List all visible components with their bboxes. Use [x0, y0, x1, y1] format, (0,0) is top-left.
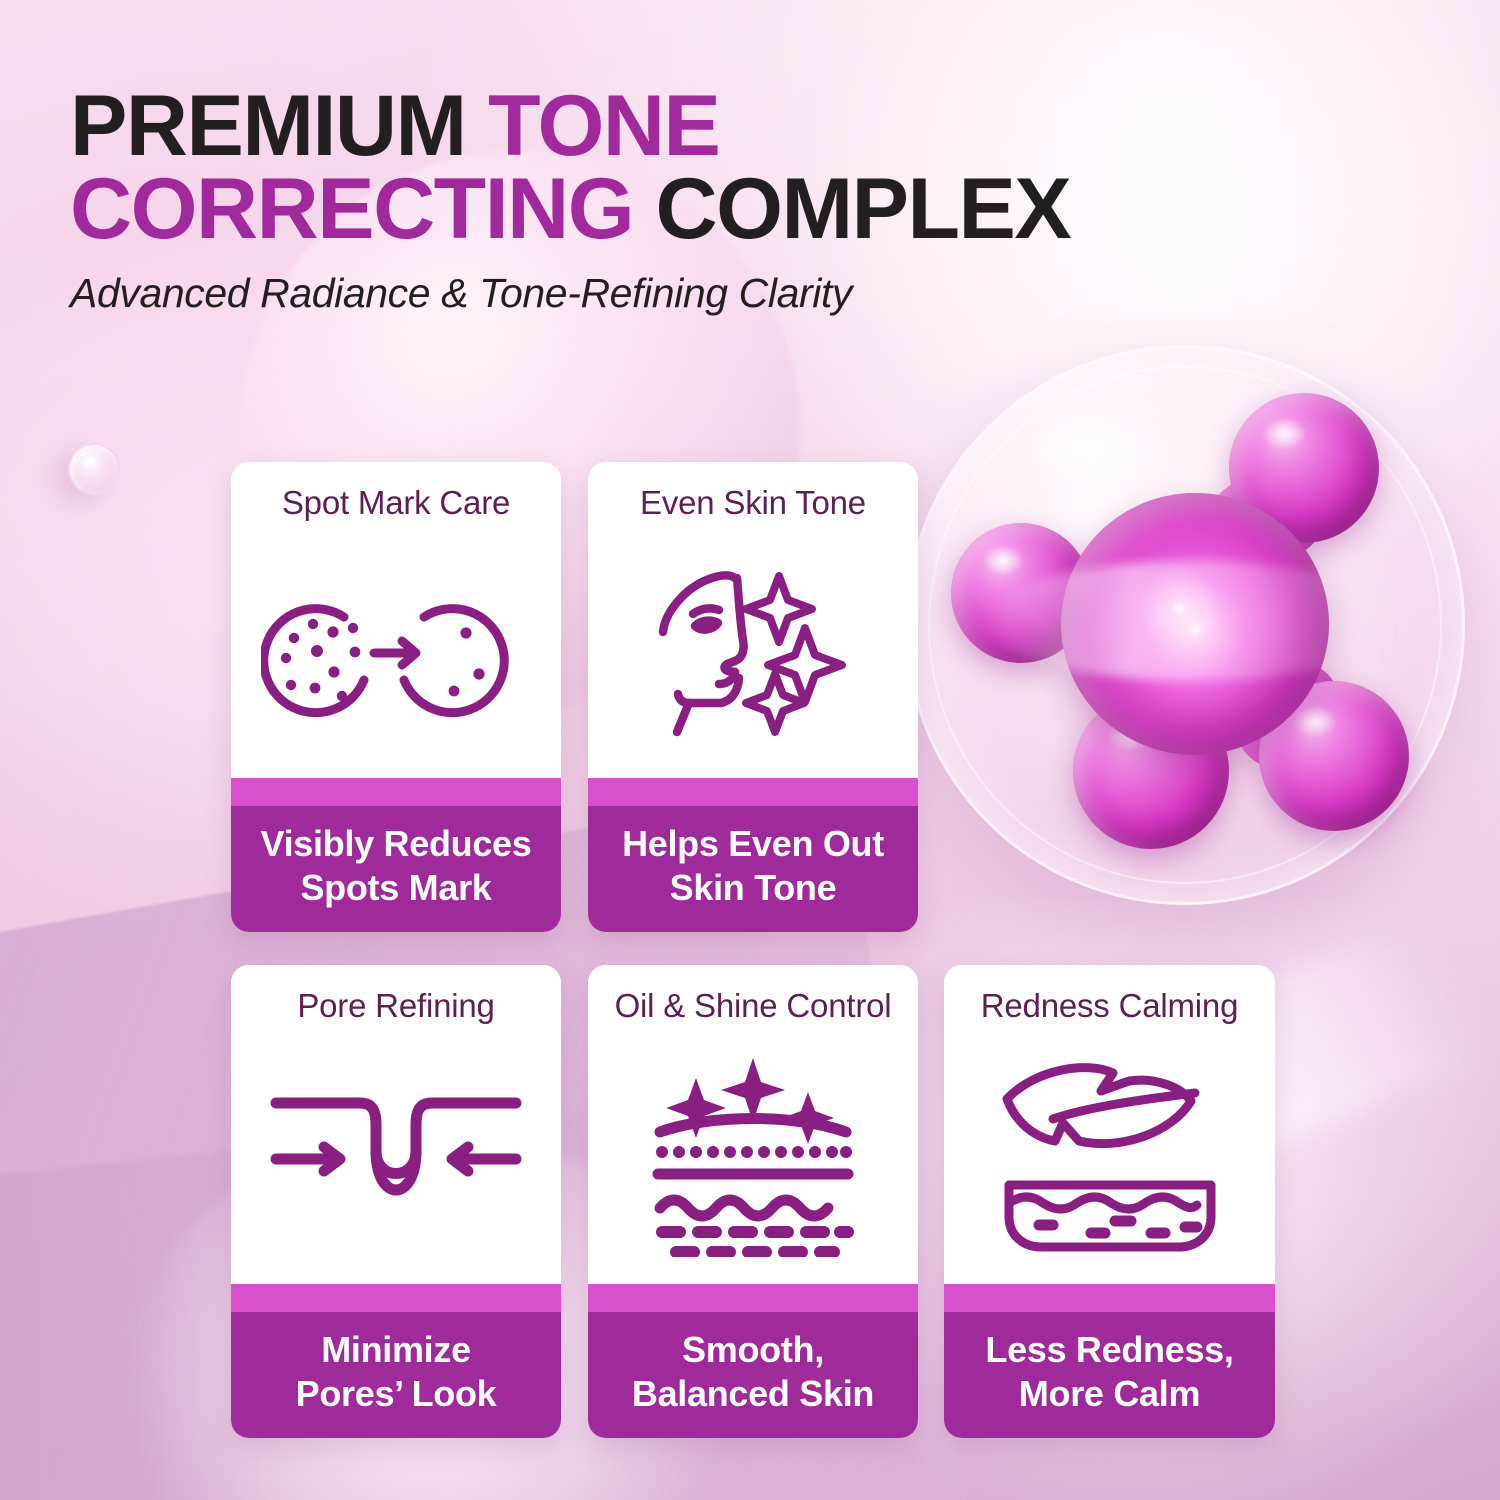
card-band-strip: [231, 1284, 561, 1312]
spot-reduction-icon: [231, 522, 561, 778]
massager-glass-sheen: [983, 561, 1403, 681]
subtitle: Advanced Radiance & Tone-Refining Clarit…: [70, 270, 1070, 317]
card-caption-spot-mark-care: Visibly Reduces Spots Mark: [231, 806, 561, 932]
card-band-strip: [588, 778, 918, 806]
caption-line-1: Visibly Reduces: [241, 822, 551, 866]
benefit-card-redness-calming[interactable]: Redness Calming: [944, 965, 1275, 1438]
card-top-pore-refining: Pore Refining: [231, 965, 561, 1284]
face-profile-sparkle-icon: [588, 522, 918, 778]
caption-line-1: Smooth,: [598, 1328, 908, 1372]
pore-tightening-icon: [231, 1025, 561, 1284]
caption-line-1: Less Redness,: [954, 1328, 1265, 1372]
card-band-strip: [944, 1284, 1275, 1312]
caption-line-2: More Calm: [954, 1372, 1265, 1416]
card-title-redness-calming: Redness Calming: [981, 987, 1238, 1025]
card-band-even-skin-tone: Helps Even Out Skin Tone: [588, 778, 918, 932]
card-band-spot-mark-care: Visibly Reduces Spots Mark: [231, 778, 561, 932]
benefit-card-spot-mark-care[interactable]: Spot Mark Care: [231, 462, 561, 932]
card-title-spot-mark-care: Spot Mark Care: [282, 484, 510, 522]
caption-line-2: Balanced Skin: [598, 1372, 908, 1416]
card-title-pore-refining: Pore Refining: [297, 987, 494, 1025]
card-band-pore-refining: Minimize Pores’ Look: [231, 1284, 561, 1438]
card-band-oil-shine-control: Smooth, Balanced Skin: [588, 1284, 918, 1438]
card-band-strip: [588, 1284, 918, 1312]
card-band-redness-calming: Less Redness, More Calm: [944, 1284, 1275, 1438]
headline-line-2: CORRECTING COMPLEX: [70, 168, 1070, 251]
caption-line-1: Helps Even Out: [598, 822, 908, 866]
caption-line-2: Skin Tone: [598, 866, 908, 910]
card-band-strip: [231, 778, 561, 806]
skin-layers-sparkle-icon: [588, 1025, 918, 1284]
water-droplet-icon: [68, 443, 120, 495]
headline-correcting: CORRECTING: [70, 161, 656, 257]
massager-tool: [933, 375, 1433, 875]
benefit-card-oil-shine-control[interactable]: Oil & Shine Control: [588, 965, 918, 1438]
card-caption-even-skin-tone: Helps Even Out Skin Tone: [588, 806, 918, 932]
header: PREMIUM TONE CORRECTING COMPLEX Advanced…: [70, 85, 1070, 317]
benefit-card-even-skin-tone[interactable]: Even Skin Tone: [588, 462, 918, 932]
card-top-redness-calming: Redness Calming: [944, 965, 1275, 1284]
headline-premium: PREMIUM: [70, 78, 488, 174]
headline-complex: COMPLEX: [656, 161, 1071, 257]
card-title-even-skin-tone: Even Skin Tone: [640, 484, 866, 522]
card-top-oil-shine-control: Oil & Shine Control: [588, 965, 918, 1284]
card-caption-oil-shine-control: Smooth, Balanced Skin: [588, 1312, 918, 1438]
card-caption-pore-refining: Minimize Pores’ Look: [231, 1312, 561, 1438]
leaf-over-skin-icon: [944, 1025, 1275, 1284]
caption-line-2: Pores’ Look: [241, 1372, 551, 1416]
card-caption-redness-calming: Less Redness, More Calm: [944, 1312, 1275, 1438]
card-top-spot-mark-care: Spot Mark Care: [231, 462, 561, 778]
headline-tone: TONE: [488, 78, 719, 174]
product-image: [905, 345, 1475, 915]
card-title-oil-shine-control: Oil & Shine Control: [615, 987, 892, 1025]
card-top-even-skin-tone: Even Skin Tone: [588, 462, 918, 778]
caption-line-2: Spots Mark: [241, 866, 551, 910]
caption-line-1: Minimize: [241, 1328, 551, 1372]
benefit-card-pore-refining[interactable]: Pore Refining Minimize Pores’ Lo: [231, 965, 561, 1438]
headline-line-1: PREMIUM TONE: [70, 85, 1070, 168]
